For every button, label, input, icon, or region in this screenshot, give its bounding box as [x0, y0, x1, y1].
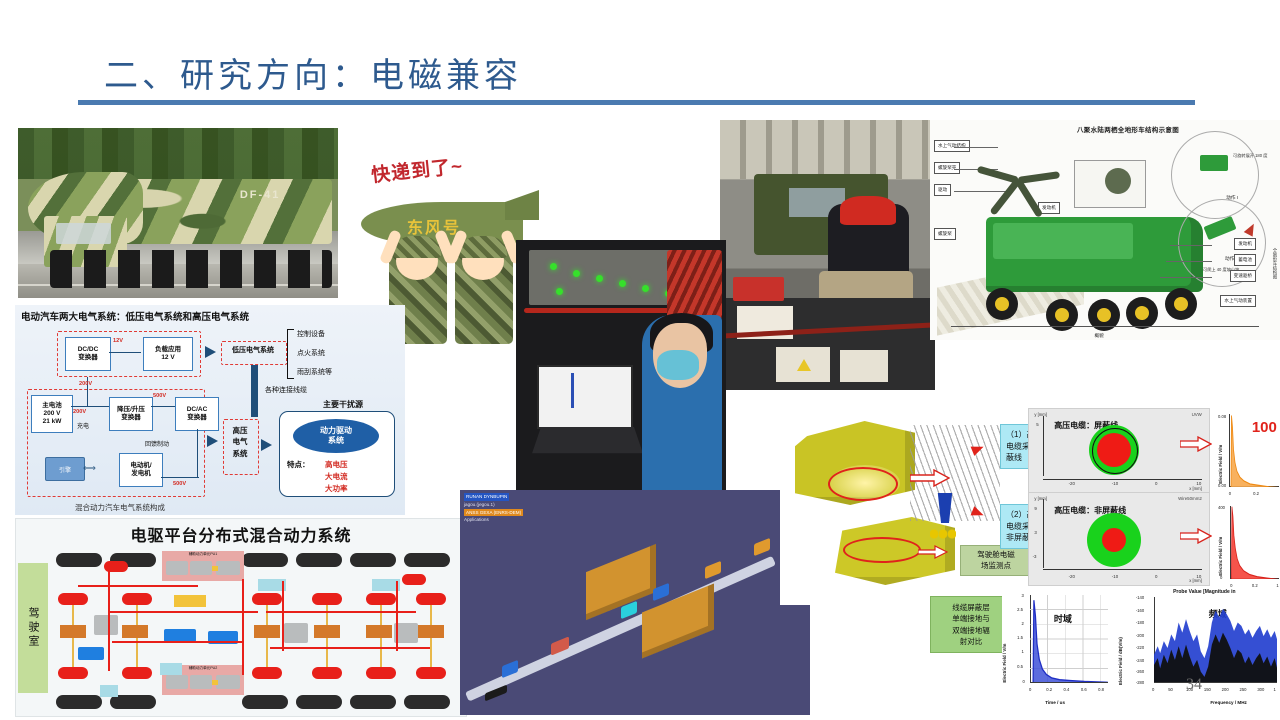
apu-2-generator: [190, 675, 212, 689]
y-tick-240: -240: [1136, 658, 1144, 663]
edrive-title: 电驱平台分布式混合动力系统: [16, 522, 466, 546]
hub-motor: [58, 593, 88, 605]
cad-spec-tree: RUNAN DYNBUPIN jagou.(jegou.1) ANSS GEXA…: [464, 493, 523, 524]
track-pad: [56, 553, 102, 567]
edrive-cab: 驾驶室: [18, 563, 48, 693]
arrow-dcac-motor: [161, 477, 199, 478]
flow-arrow-icon: [1180, 436, 1212, 452]
cable-core: [1097, 433, 1131, 467]
x-tick-08: 0.8: [1098, 687, 1104, 692]
atv-wheel: [986, 288, 1018, 320]
axis-label-y: Electric Field / V/m: [1002, 600, 1007, 683]
x-tick-2: 0: [1155, 481, 1157, 486]
laptop-screen: [537, 365, 633, 429]
track-pad: [56, 695, 102, 709]
bus-line: [108, 611, 258, 613]
x-tick-06: 0.6: [1081, 687, 1087, 692]
bus-line: [266, 611, 416, 613]
hub-motor: [312, 593, 342, 605]
bus-line: [78, 585, 198, 587]
axis-label-y: y [mm]: [1034, 496, 1047, 501]
y-tick-2: 2: [1021, 621, 1023, 626]
y-axis: [1043, 499, 1044, 569]
hub-motor: [416, 667, 446, 679]
flow-arrow-icon: [1180, 528, 1212, 544]
track-pad: [350, 695, 396, 709]
vehicle-wheels: [50, 250, 332, 287]
cartoon-headline: 快递到了~: [370, 151, 464, 187]
atv-side-note: 全地形车结构图: [1272, 248, 1278, 279]
y-tick-0: 0: [1023, 679, 1025, 684]
atv-label-right-2: 变速驱桥: [1230, 270, 1256, 282]
aux-unit: [160, 663, 182, 675]
status-led: [596, 275, 603, 282]
equipment-box: [840, 350, 887, 382]
box-buck-boost: 降压/升压 变换器: [109, 397, 153, 431]
atv-label-left-2: 驱动: [934, 184, 951, 196]
y-tick-bottom: 0: [1220, 575, 1222, 580]
arrow-hv-to-drive: [261, 439, 272, 451]
chart-corner-note: Wire50mm2: [1178, 496, 1202, 501]
y-tick-1: 3: [1034, 530, 1036, 535]
bus-riser: [242, 579, 244, 675]
hardhat-icon: [840, 196, 896, 226]
voltage-500v-a: 500V: [153, 393, 166, 399]
inset-1-vehicle: [1200, 155, 1228, 171]
lv-item-1: 点火系统: [297, 348, 325, 358]
soldier-helmet-icon: [459, 236, 507, 258]
motor-controller: [418, 625, 444, 638]
y-tick-0: 5: [1036, 422, 1038, 427]
model-cab-emc: 驾驶舱电磁 场监测点: [780, 405, 1030, 605]
motor-controller: [366, 625, 392, 638]
x-tick-0: -20: [1069, 574, 1075, 579]
voltage-200v-a: 200V: [79, 381, 92, 387]
y-tick-25: 2.5: [1017, 607, 1023, 612]
feature-2: 大功率: [325, 483, 348, 494]
hub-motor: [312, 667, 342, 679]
voltage-500v-b: 500V: [173, 481, 186, 487]
x-tick-02: 0.2: [1046, 687, 1052, 692]
component-node: [754, 538, 770, 556]
status-led: [550, 263, 557, 270]
y-tick-05: 0.5: [1017, 664, 1023, 669]
label-lv-system: 低压电气系统: [223, 345, 283, 355]
bus-riser: [282, 581, 284, 651]
bidirectional-arrow-icon: ⟺: [83, 463, 96, 474]
x-tick-150: 150: [1204, 687, 1211, 692]
cad-tree-item-2[interactable]: ANSS GEXA (ENRS-DEM): [464, 509, 523, 517]
ev-diagram-heading: 电动汽车两大电气系统：低压电气系统和高压电气系统: [21, 309, 249, 323]
high-voltage-warning-icon: [797, 359, 811, 371]
bus-riser: [108, 571, 110, 671]
y-tick-top: 0.08: [1218, 414, 1226, 419]
atv-wheel: [1165, 288, 1197, 320]
y-tick-160: -160: [1136, 608, 1144, 613]
y-tick-15: 1.5: [1017, 635, 1023, 640]
title-divider: [78, 100, 1195, 105]
motor-controller: [60, 625, 86, 638]
box-load: 负载应用 12 V: [143, 337, 193, 371]
y-tick-280: -280: [1136, 680, 1144, 685]
y-tick-200: -200: [1136, 633, 1144, 638]
brake-controller: [78, 647, 104, 660]
cad-tree-item-3[interactable]: Applications: [464, 517, 489, 522]
apu-1-label: 辅助动力单元PU1: [164, 552, 242, 557]
page-title: 二、研究方向：电磁兼容: [104, 48, 522, 97]
frequency-spectrum-traces: [1154, 597, 1277, 682]
status-led: [642, 285, 649, 292]
time-domain-curve: [1030, 595, 1108, 682]
cable-core: [1102, 528, 1126, 552]
axis-label-y: Electric Field / V/m: [1218, 423, 1223, 484]
hv-distribution-box: [284, 623, 308, 643]
y-tick-1: 1: [1021, 649, 1023, 654]
axis-label-x: Time / us: [1045, 700, 1065, 705]
y-tick-140: -140: [1136, 595, 1144, 600]
leader-line: [1170, 245, 1212, 246]
apu-2-engine: [166, 675, 188, 689]
hub-motor: [122, 593, 152, 605]
track-pad: [404, 553, 450, 567]
x-tick-300: 300: [1257, 687, 1264, 692]
x-tick-1: 0.2: [1253, 491, 1259, 496]
y-tick-2: -3: [1033, 554, 1037, 559]
cartoon-soldier-right: [455, 244, 513, 344]
axis-label-x: x [mm]: [1189, 578, 1202, 583]
atv-label-right-3: 水上气动装置: [1220, 295, 1256, 307]
x-axis: [1043, 479, 1201, 480]
track-pad: [296, 695, 342, 709]
hv-distribution-box: [94, 615, 118, 635]
x-tick-50: 50: [1168, 687, 1173, 692]
y-tick-180: -180: [1136, 620, 1144, 625]
box-dcac: DC/AC 变换器: [175, 397, 219, 431]
flow-arrow-icon: [918, 545, 948, 559]
hub-motor: [416, 593, 446, 605]
apu-1-engine: [166, 561, 188, 575]
track-pad: [110, 695, 156, 709]
feature-1: 大电流: [325, 471, 348, 482]
hub-motor: [58, 667, 88, 679]
inset-1-note: 可旋转展开 180 度: [1233, 153, 1280, 159]
axis-label-y: Electric Field / dB(V/m): [1118, 600, 1123, 685]
label-regen-brake: 回馈制动: [145, 439, 169, 448]
axis-label-x: x [mm]: [1189, 486, 1202, 491]
arrow-dcac-down: [197, 429, 198, 477]
x-tick-0: -20: [1069, 481, 1075, 486]
label-charging: 充电: [77, 421, 89, 430]
diagram-ev-electrical-system: 电动汽车两大电气系统：低压电气系统和高压电气系统 DC/DC 变换器 负载应用 …: [15, 305, 405, 515]
box-motor-generator: 电动机/ 发电机: [119, 453, 163, 487]
callout-grounding-comparison: 线缆屏蔽层 单端接地与 双端接地辐 射对比: [930, 596, 1012, 653]
photo-field-test: [720, 120, 935, 390]
propeller-icon: [983, 155, 1053, 199]
chart-shielded-response: Electric Field / V/m 0.08 0.00 0 0.2 100: [1216, 408, 1280, 500]
multimeter: [733, 277, 785, 301]
chart-time-domain: Electric Field / V/m 3 2.5 2 1.5 1 0.5 0…: [1002, 588, 1110, 706]
highlight-ellipse-cable: [828, 467, 898, 501]
track-pad: [242, 695, 288, 709]
motor-controller: [122, 625, 148, 638]
feature-0: 高电压: [325, 459, 348, 470]
status-led: [619, 280, 626, 287]
y-tick-0: 9: [1034, 506, 1036, 511]
leader-line: [1166, 261, 1212, 262]
axis-label-x: Frequency / MHz: [1210, 700, 1247, 705]
track-pad: [242, 553, 288, 567]
label-cables: 各种连接线缆: [265, 385, 307, 395]
bus-riser: [396, 581, 398, 651]
x-tick-0: 0: [1029, 687, 1031, 692]
motor-controller: [254, 625, 280, 638]
atv-label-left-3: 螺旋桨: [934, 228, 956, 240]
annotation-100: 100: [1252, 419, 1277, 436]
air-conditioner: [100, 685, 118, 697]
leader-line: [954, 147, 998, 148]
page-number: 34: [1186, 676, 1202, 694]
x-tick-04: 0.4: [1064, 687, 1070, 692]
y-tick-220: -220: [1136, 645, 1144, 650]
hub-motor: [122, 667, 152, 679]
y-tick-top: 400: [1218, 505, 1225, 510]
hub-motor: [252, 593, 282, 605]
connector-lv-hv: [251, 365, 258, 417]
chart-unshielded-response: Electric Field / V/m 400 0 0 0.2 1: [1216, 500, 1280, 592]
slide-root: 二、研究方向：电磁兼容 DF-41 快递到了~ 东风号: [0, 0, 1280, 720]
lv-brace: [287, 329, 294, 379]
laptop-keyboard: [532, 427, 642, 453]
bus-line: [112, 641, 242, 643]
x-tick-0: 0: [1152, 687, 1154, 692]
cad-simulation-view: RUNAN DYNBUPIN jagou.(jegou.1) ANSS GEXA…: [460, 490, 810, 715]
y-tick-3: 3: [1021, 593, 1023, 598]
arrow-dcdc-load: [109, 352, 141, 353]
steering-controller: [174, 595, 206, 607]
track-pad: [404, 695, 450, 709]
box-engine: 引擎: [45, 457, 85, 481]
apu-1-generator: [190, 561, 212, 575]
voltage-12v: 12V: [113, 338, 123, 344]
x-tick-200: 200: [1222, 687, 1229, 692]
y-tick-260: -260: [1136, 669, 1144, 674]
features-prefix: 特点：: [287, 459, 310, 470]
dcdc-2: [402, 574, 426, 585]
box-battery: 主电池 200 V 21 kW: [31, 395, 73, 433]
box-dcdc: DC/DC 变换器: [65, 337, 111, 371]
atv-label-right-1: 蓄电池: [1234, 254, 1256, 266]
unshielded-decay-curve: [1230, 506, 1279, 580]
monitor-point-tag: 驾驶舱电磁 场监测点: [960, 545, 1030, 576]
oval-drive-system: 动力驱动 系统: [293, 419, 379, 453]
axis-label-y: y [mm]: [1034, 412, 1047, 417]
chart-title: Probe Value [Magnitude in: [1173, 589, 1236, 595]
x-tick-250: 250: [1240, 687, 1247, 692]
status-led: [556, 288, 563, 295]
photo-treeline: [18, 128, 338, 179]
arrow-to-lv-system: [205, 346, 216, 358]
label-main-interference-source: 主要干扰源: [291, 399, 395, 410]
cable-ends: [930, 529, 956, 539]
highlight-ellipse-probes: [843, 537, 921, 563]
component-node: [705, 560, 721, 578]
diagram-edrive-platform: 电驱平台分布式混合动力系统 驾驶室 辅助动力单元PU1 辅助动力单元PU2: [15, 518, 467, 717]
atv-cargo-bed: [993, 223, 1133, 258]
apu-1-controller: [216, 561, 240, 575]
atv-label-right-0: 发动机: [1234, 238, 1256, 250]
status-led: [573, 270, 580, 277]
waveform-trace: [571, 373, 574, 408]
track-pad: [296, 553, 342, 567]
apu-2-controller: [216, 675, 240, 689]
lv-item-0: 控制设备: [297, 329, 325, 339]
axis-label-y: Electric Field / V/m: [1218, 515, 1223, 576]
label-hv-system: 高压 电气 系统: [223, 425, 257, 459]
arrow-battery-buckboost: [71, 406, 109, 407]
voltage-200v-b: 200V: [73, 409, 86, 415]
chart-corner-note: UVW: [1192, 412, 1202, 417]
atv-wheel: [1126, 297, 1158, 329]
x-tick-end: 1: [1274, 687, 1276, 692]
arrow-to-hv-system: [207, 435, 218, 447]
cartoon-missile-label: 东风号: [407, 214, 461, 238]
photo-missile-tel: DF-41: [18, 128, 338, 298]
wire-harness: [667, 250, 722, 320]
cad-tree-item-1[interactable]: jagou.(jegou.1): [464, 502, 495, 507]
vehicle-marking: DF-41: [240, 189, 281, 201]
x-tick-0: 0: [1229, 491, 1231, 496]
roof-beams: [720, 120, 935, 179]
lv-item-2: 雨刮系统等: [297, 367, 332, 377]
flow-arrow-icon: [910, 469, 950, 487]
soldier-helmet-icon: [393, 236, 441, 258]
ev-diagram-caption: 混合动力汽车电气系统构成: [75, 502, 165, 513]
atv-diagram-title: 八聚水陆两栖全地形车结构示意图: [1077, 124, 1179, 134]
photo-lab-measurement: [516, 240, 726, 490]
x-tick-1: -10: [1112, 481, 1118, 486]
x-tick-1: -10: [1112, 574, 1118, 579]
y-axis: [1043, 416, 1044, 476]
arrow-buckboost-dcac: [151, 406, 175, 407]
leader-line: [1160, 277, 1212, 278]
x-tick-2: 0: [1155, 574, 1157, 579]
y-tick-bottom: 0.00: [1218, 483, 1226, 488]
diagram-atv-structure: 八聚水陆两栖全地形车结构示意图 水上气动结构 螺旋桨壳 驱动 螺旋桨 水上气动装…: [930, 120, 1280, 340]
track-pad: [350, 553, 396, 567]
ground-line: [951, 326, 1259, 327]
bus-line: [270, 647, 430, 649]
motor-controller: [314, 625, 340, 638]
hv-distribution-box: [394, 623, 418, 643]
cab-window: [56, 223, 110, 243]
apu-2-link: [212, 680, 218, 685]
apu-1-link: [212, 566, 218, 571]
atv-footer-label: 概貌: [1095, 333, 1104, 339]
edrive-cab-label: 驾驶室: [25, 607, 41, 649]
hub-motor: [366, 667, 396, 679]
hub-motor: [366, 593, 396, 605]
face-mask-icon: [657, 350, 699, 380]
x-axis: [1043, 569, 1201, 570]
cad-tree-item-0[interactable]: RUNAN DYNBUPIN: [464, 493, 509, 501]
hub-motor: [252, 667, 282, 679]
